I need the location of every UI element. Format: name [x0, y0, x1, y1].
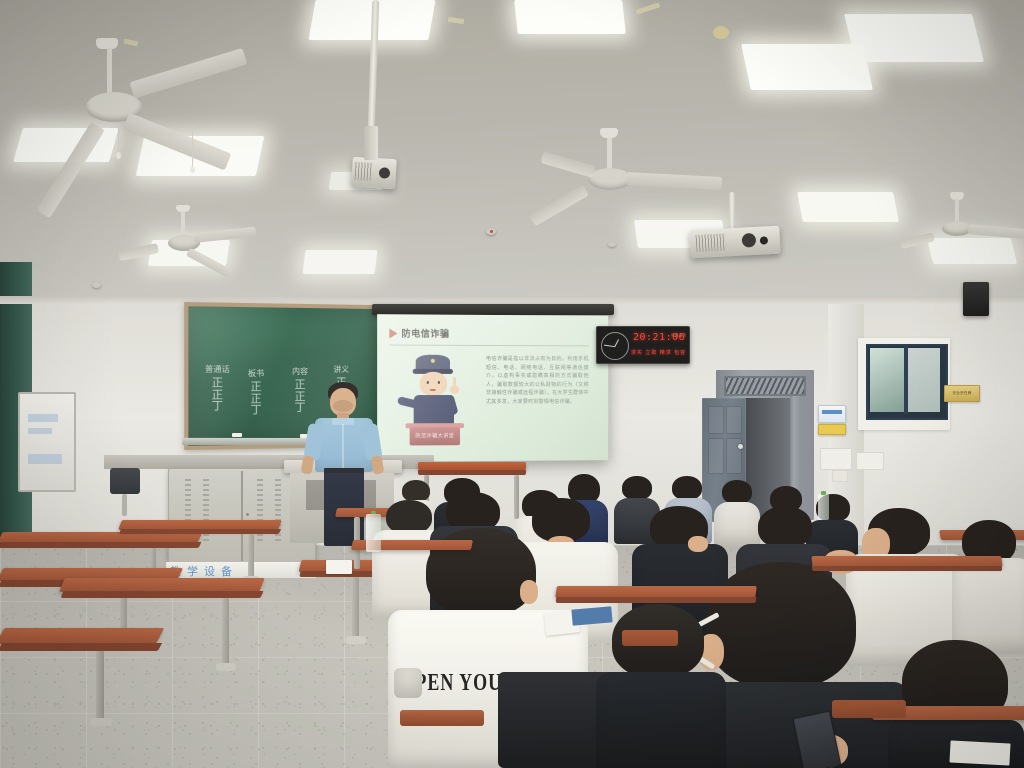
projection-screen: 防电信诈骗 防范诈骗大讲堂 [377, 314, 608, 462]
board-note [28, 414, 58, 422]
chair-back [832, 700, 906, 718]
blackboard-column: 普通话 正正丁 [205, 364, 230, 414]
side-notice-board [18, 392, 76, 492]
door-panel [708, 438, 724, 474]
student-sleeve-patch [394, 668, 422, 698]
student-head [622, 476, 652, 500]
led-wall-clock: 20:21:06 求实 立取 精求 包容 欢迎光临 [596, 326, 690, 364]
smoke-detector-icon [486, 228, 496, 235]
student-ear [520, 580, 538, 604]
fan-blade [130, 48, 248, 99]
blackboard-tally: 正正丁 [250, 382, 261, 417]
presenter-shirt-placket [342, 424, 344, 470]
blackboard-heading: 内容 [292, 366, 308, 377]
door-transom-vent [724, 376, 806, 396]
fan-downrod [607, 137, 612, 171]
blackboard-heading: 板书 [248, 368, 264, 379]
desk-edge [418, 470, 526, 475]
blackboard-heading: 普通话 [205, 364, 230, 375]
presenter-face-shadow [333, 400, 353, 412]
chair-frame [122, 494, 127, 516]
gold-plaque-text: 安全责任牌 [945, 391, 979, 396]
desk-surface [418, 462, 526, 470]
wall-poster [856, 452, 884, 470]
cabinet-lock-icon[interactable] [246, 513, 249, 516]
transom-grill [726, 378, 804, 394]
student-desk [120, 520, 280, 580]
fan-downrod [955, 199, 959, 223]
desk-foot [346, 636, 366, 644]
ceiling-fan [70, 38, 280, 198]
classroom-chair [832, 700, 912, 760]
student-desk [62, 578, 262, 678]
window-mullion [904, 346, 908, 414]
ceiling-fan [150, 205, 270, 275]
window-sash [866, 344, 948, 420]
bottle-cap [371, 511, 376, 514]
presenter-forearm-right [371, 455, 385, 474]
fan-blade [123, 113, 232, 171]
blue-notice-sign [818, 405, 846, 423]
wall-outlet-plate [832, 470, 848, 482]
led-clock-motto: 求实 立取 精求 包容 [631, 349, 686, 356]
door-handle[interactable] [738, 444, 743, 449]
ceiling-sensor-icon [608, 242, 616, 247]
board-note [28, 428, 52, 434]
led-clock-note: 欢迎光临 [671, 333, 686, 338]
clock-hand-hour [614, 339, 619, 347]
desk-leg [352, 577, 359, 639]
desk-foot [216, 663, 236, 671]
presenter-belt [324, 468, 364, 473]
notice-strip [822, 410, 842, 414]
door-panel [726, 406, 742, 434]
window-glass [908, 348, 940, 412]
fan-pull-chain [192, 126, 193, 168]
ceiling-projector [689, 226, 780, 259]
desk-edge [812, 566, 1003, 571]
gold-safety-plaque: 安全责任牌 [944, 385, 980, 402]
paper-sheet[interactable] [949, 740, 1010, 765]
analog-clock-face-icon [601, 332, 629, 360]
ceiling-projector [351, 157, 397, 189]
audience-desk [812, 556, 1002, 606]
desk-leg [248, 534, 254, 578]
wall-poster [820, 448, 852, 470]
wall-upper-band [0, 296, 1024, 304]
board-note [28, 454, 62, 464]
chalk-piece [232, 433, 242, 437]
desk-edge [61, 591, 264, 598]
screen-sheen [377, 314, 608, 462]
blackboard-heading: 讲义 [333, 364, 349, 375]
desk-edge [556, 597, 757, 603]
water-bottle[interactable] [818, 494, 829, 520]
desk-leg [222, 598, 229, 666]
student-head [758, 506, 812, 548]
ceiling-tape [448, 17, 465, 24]
water-bottle[interactable] [366, 514, 381, 552]
blackboard-tally: 正正丁 [212, 378, 223, 413]
fan-blade [540, 151, 595, 177]
classroom-chair [622, 630, 682, 700]
suspended-ceiling [0, 0, 1024, 330]
classroom-chair [400, 710, 490, 768]
chair-back [622, 630, 678, 646]
projection-screen-housing [372, 304, 614, 315]
student-head [722, 480, 752, 504]
ceiling-mark [713, 26, 729, 39]
fan-blade [186, 248, 233, 278]
fan-blade [193, 227, 256, 243]
door-panel [708, 406, 724, 434]
desk-foot [90, 718, 112, 726]
desk-edge [119, 529, 281, 534]
student-hand [688, 536, 708, 552]
ceiling-panel-light [844, 14, 984, 62]
ceiling-sensor-icon [92, 282, 101, 288]
fan-blade [968, 224, 1024, 239]
classroom-photo: 普通话 正正丁 板书 正正丁 内容 正正丁 讲义 正正丁 课时 正正丁 [0, 0, 1024, 768]
fan-blade [529, 185, 589, 226]
ceiling-panel-light [797, 192, 899, 222]
ceiling-fan [932, 192, 1024, 262]
clock-hand-minute [604, 344, 615, 347]
yellow-warning-sign [818, 424, 846, 435]
chair-back [110, 468, 140, 494]
window-glass [870, 348, 904, 412]
student-head [672, 476, 702, 500]
bottle-cap [821, 491, 826, 495]
paper-sheet[interactable] [326, 560, 352, 574]
wall-speaker [963, 282, 989, 316]
fan-downrod [181, 211, 185, 237]
blackboard-column: 板书 正正丁 [248, 368, 264, 417]
ceiling-panel-light [303, 250, 378, 274]
desk-surface [59, 578, 265, 592]
projector-mount-bracket [364, 126, 378, 160]
chair-back [400, 710, 484, 726]
projector-mount-rod [729, 192, 735, 230]
fan-pull-chain [118, 122, 119, 154]
ceiling-panel-light [514, 0, 626, 34]
fan-downrod [107, 48, 112, 96]
student-head [402, 480, 430, 502]
ceiling-tape [636, 2, 660, 14]
fan-blade [118, 243, 159, 261]
classroom-chair [106, 468, 142, 528]
fan-blade [626, 172, 723, 190]
presenter-forearm-left [301, 455, 315, 474]
ceiling-fan [560, 128, 740, 238]
